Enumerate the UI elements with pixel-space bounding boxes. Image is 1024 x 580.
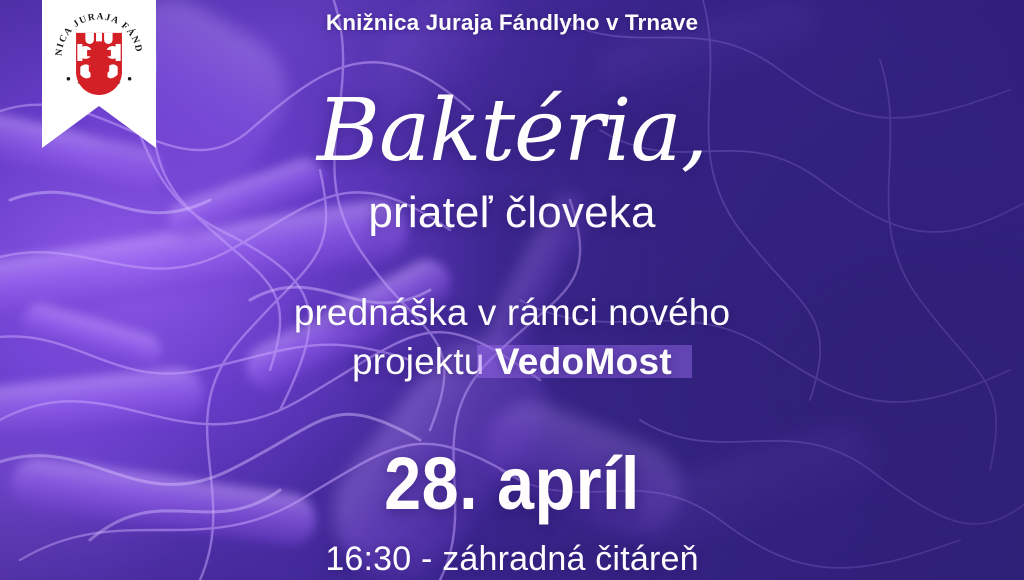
organization-name: Knižnica Juraja Fándlyho v Trnave <box>0 10 1024 36</box>
lecture-line-2-prefix: projektu <box>352 341 495 382</box>
lecture-description: prednáška v rámci nového projektu VedoMo… <box>0 288 1024 386</box>
event-date: 28. apríl <box>51 447 973 521</box>
lecture-line-1: prednáška v rámci nového <box>294 292 730 333</box>
poster-subtitle: priateľ človeka <box>0 190 1024 236</box>
poster-content: Knižnica Juraja Fándlyho v Trnave Baktér… <box>0 0 1024 580</box>
event-poster: KNIŽNICA JURAJA FÁNDLYHO TRNAVA <box>0 0 1024 580</box>
event-time-and-venue: 16:30 - záhradná čitáreň <box>0 541 1024 578</box>
poster-title-script: Baktéria, <box>0 88 1024 174</box>
project-name: VedoMost <box>495 341 672 382</box>
